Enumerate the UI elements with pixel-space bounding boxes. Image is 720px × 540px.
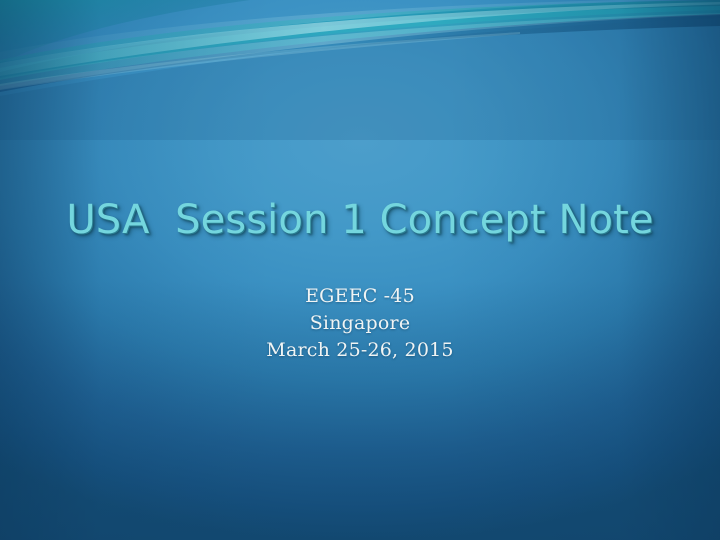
subtitle-line-location: Singapore (0, 310, 720, 337)
slide-canvas: USA Session 1 Concept Note EGEEC -45 Sin… (0, 0, 720, 540)
subtitle-line-date: March 25-26, 2015 (0, 337, 720, 364)
subtitle-placeholder[interactable]: EGEEC -45 Singapore March 25-26, 2015 (0, 283, 720, 364)
slide-title: USA Session 1 Concept Note (0, 198, 720, 244)
subtitle-line-event: EGEEC -45 (0, 283, 720, 310)
top-wave-decoration (0, 0, 720, 140)
title-placeholder[interactable]: USA Session 1 Concept Note (0, 198, 720, 244)
